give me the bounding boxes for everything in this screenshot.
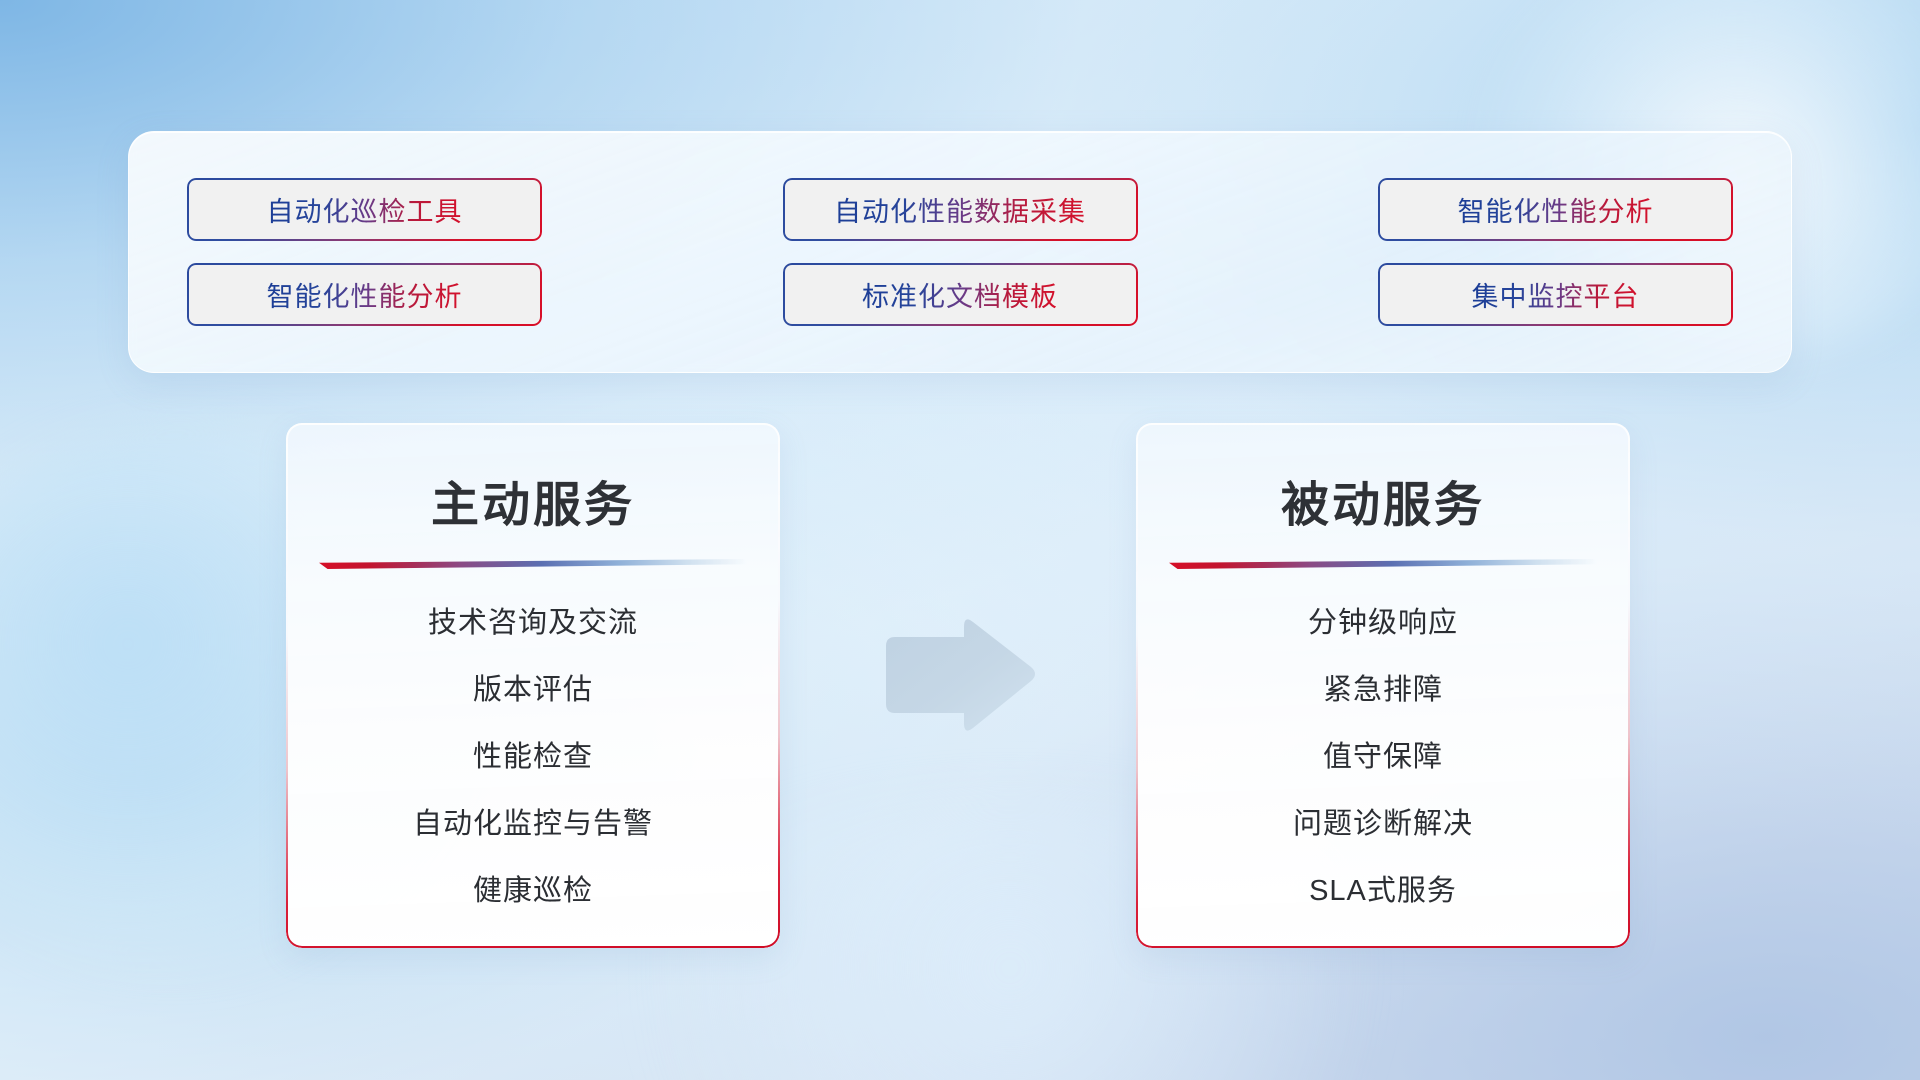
- list-item: SLA式服务: [1309, 867, 1457, 909]
- capability-pill-label: 集中监控平台: [1472, 275, 1640, 314]
- list-item: 紧急排障: [1323, 666, 1443, 708]
- capabilities-panel: 自动化巡检工具 自动化性能数据采集 智能化性能分析 智能化性能分析 标准化文档模…: [128, 131, 1792, 373]
- service-card-proactive: 主动服务 技术咨询及交流 版本评估 性能检查 自动化监控与告警 健康巡检: [286, 423, 780, 948]
- capability-pill-label: 标准化文档模板: [862, 275, 1058, 314]
- service-card-reactive: 被动服务 分钟级响应 紧急排障 值守保障 问题诊断解决 SLA式服务: [1136, 423, 1630, 948]
- capabilities-row-1: 自动化巡检工具 自动化性能数据采集 智能化性能分析: [187, 178, 1733, 241]
- card-item-list: 技术咨询及交流 版本评估 性能检查 自动化监控与告警 健康巡检: [286, 599, 780, 909]
- list-item: 健康巡检: [473, 867, 593, 909]
- capability-pill-label: 自动化巡检工具: [267, 190, 463, 229]
- arrow-right-icon: [880, 614, 1040, 739]
- capability-pill-label: 智能化性能分析: [267, 275, 463, 314]
- list-item: 问题诊断解决: [1293, 800, 1473, 842]
- list-item: 分钟级响应: [1308, 599, 1458, 641]
- list-item: 值守保障: [1323, 733, 1443, 775]
- capability-pill-centralized-monitoring-platform[interactable]: 集中监控平台: [1378, 263, 1733, 326]
- card-title-underline: [319, 559, 747, 569]
- capability-pill-automated-inspection-tool[interactable]: 自动化巡检工具: [187, 178, 542, 241]
- list-item: 技术咨询及交流: [428, 599, 638, 641]
- list-item: 版本评估: [473, 666, 593, 708]
- capability-pill-standardized-document-template[interactable]: 标准化文档模板: [783, 263, 1138, 326]
- capability-pill-automated-performance-data-collection[interactable]: 自动化性能数据采集: [783, 178, 1138, 241]
- card-title: 被动服务: [1136, 465, 1630, 535]
- card-title: 主动服务: [286, 465, 780, 535]
- capability-pill-label: 智能化性能分析: [1458, 190, 1654, 229]
- capability-pill-intelligent-performance-analysis-2[interactable]: 智能化性能分析: [187, 263, 542, 326]
- list-item: 自动化监控与告警: [413, 800, 653, 842]
- card-item-list: 分钟级响应 紧急排障 值守保障 问题诊断解决 SLA式服务: [1136, 599, 1630, 909]
- capability-pill-intelligent-performance-analysis[interactable]: 智能化性能分析: [1378, 178, 1733, 241]
- card-title-underline: [1169, 559, 1597, 569]
- capabilities-row-2: 智能化性能分析 标准化文档模板 集中监控平台: [187, 263, 1733, 326]
- list-item: 性能检查: [473, 733, 593, 775]
- capability-pill-label: 自动化性能数据采集: [834, 190, 1086, 229]
